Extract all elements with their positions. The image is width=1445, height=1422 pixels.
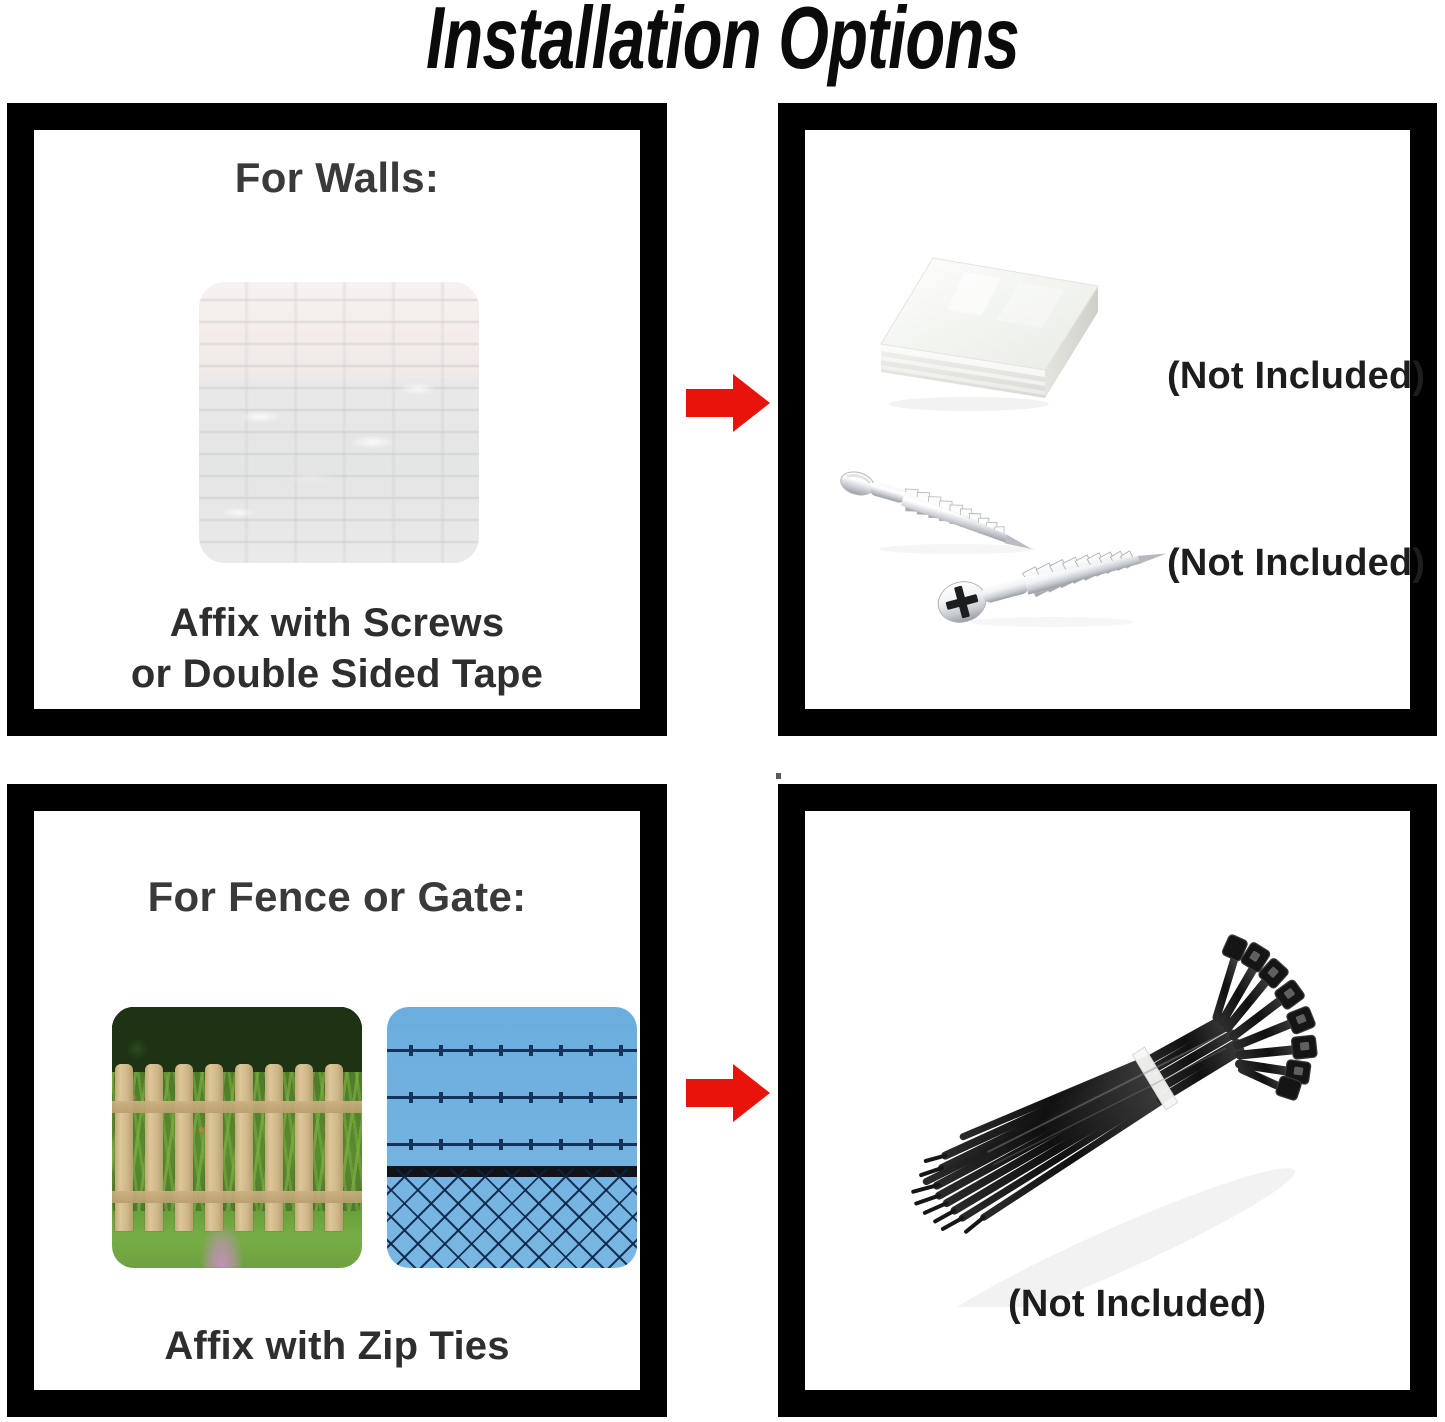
panel-fence-hardware: (Not Included) (778, 784, 1437, 1417)
panel-walls-heading: For Walls: (34, 154, 640, 202)
panel-for-walls: For Walls: Affix with Screws or Double S… (7, 103, 667, 736)
panel-fence-heading: For Fence or Gate: (34, 873, 640, 921)
screws-not-included-label: (Not Included) (1167, 542, 1425, 585)
chain-link-fence-image (387, 1007, 637, 1268)
zipties-not-included-label: (Not Included) (1008, 1283, 1266, 1326)
wooden-picket-fence-image (112, 1007, 362, 1268)
image-artifact-speck (776, 773, 781, 779)
tape-not-included-label: (Not Included) (1167, 355, 1425, 398)
double-sided-tape-image (869, 252, 1119, 417)
panel-fence-caption: Affix with Zip Ties (34, 1321, 640, 1372)
phillips-wood-screw-image (932, 532, 1182, 627)
panel-for-fence-or-gate: For Fence or Gate: (7, 784, 667, 1417)
white-brick-wall-image (199, 282, 479, 563)
zip-tie-bundle-image (862, 922, 1362, 1307)
right-arrow-icon (686, 1062, 770, 1124)
page-title: Installation Options (188, 0, 1257, 82)
right-arrow-icon (686, 372, 770, 434)
panel-wall-hardware: (Not Included) (778, 103, 1437, 736)
panel-walls-caption-line2: or Double Sided Tape (34, 649, 640, 700)
panel-walls-caption-line1: Affix with Screws (34, 598, 640, 649)
